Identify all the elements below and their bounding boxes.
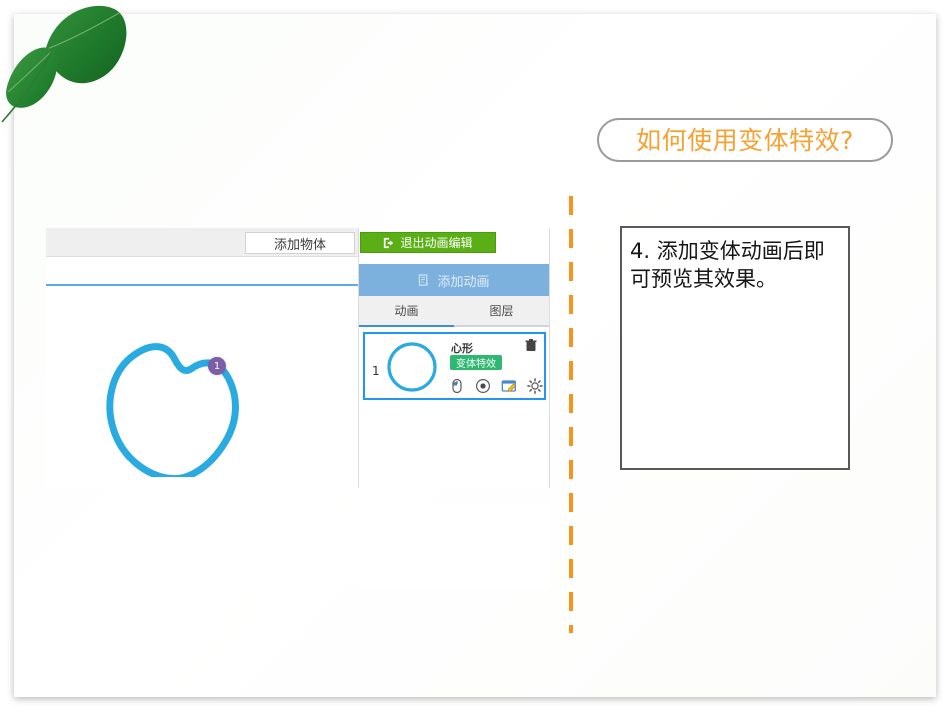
animation-item-index: 1: [372, 364, 380, 378]
panel-tabs: 动画 图层: [359, 296, 549, 327]
tab-layer[interactable]: 图层: [454, 296, 549, 325]
exit-arrow-icon: [383, 237, 395, 249]
app-canvas[interactable]: 1: [46, 257, 358, 488]
caption-text: 4. 添加变体动画后即可预览其效果。: [630, 238, 842, 293]
slide-root: 如何使用变体特效? 4. 添加变体动画后即可预览其效果。 添加物体 1: [0, 0, 950, 712]
page-title-text: 如何使用变体特效?: [636, 128, 854, 153]
tab-animation[interactable]: 动画: [359, 296, 454, 325]
animation-panel: 退出动画编辑 添加动画 动画 图层 1: [358, 228, 550, 488]
caption-box: 4. 添加变体动画后即可预览其效果。: [620, 226, 850, 470]
animation-list: 1 心形 变体特效: [359, 329, 549, 488]
animation-list-item[interactable]: 1 心形 变体特效: [363, 332, 546, 400]
add-animation-button[interactable]: 添加动画: [359, 264, 549, 296]
dashed-divider: [569, 196, 573, 633]
page-title: 如何使用变体特效?: [597, 118, 893, 162]
animation-item-title: 心形: [451, 340, 473, 356]
gear-settings-icon[interactable]: [527, 378, 543, 394]
effect-badge[interactable]: 变体特效: [450, 355, 502, 370]
mouse-trigger-icon[interactable]: [449, 378, 465, 394]
circle-outline-icon: [385, 340, 439, 394]
record-dot-icon[interactable]: [475, 378, 491, 394]
edit-window-icon[interactable]: [501, 378, 517, 394]
animation-order-badge[interactable]: 1: [208, 357, 226, 375]
add-animation-icon: [418, 274, 431, 287]
add-object-button[interactable]: 添加物体: [245, 232, 355, 254]
heart-outline-icon[interactable]: [91, 342, 251, 477]
add-animation-label: 添加动画: [437, 271, 489, 290]
canvas-guide-line: [46, 284, 358, 286]
animation-list-empty-area: [359, 504, 549, 589]
exit-animation-edit-label: 退出动画编辑: [400, 234, 472, 251]
exit-animation-edit-button[interactable]: 退出动画编辑: [360, 232, 496, 253]
app-screenshot: 添加物体 1 退出动画编辑: [46, 228, 550, 488]
animation-item-actions: [449, 376, 543, 396]
trash-icon[interactable]: [525, 339, 537, 352]
